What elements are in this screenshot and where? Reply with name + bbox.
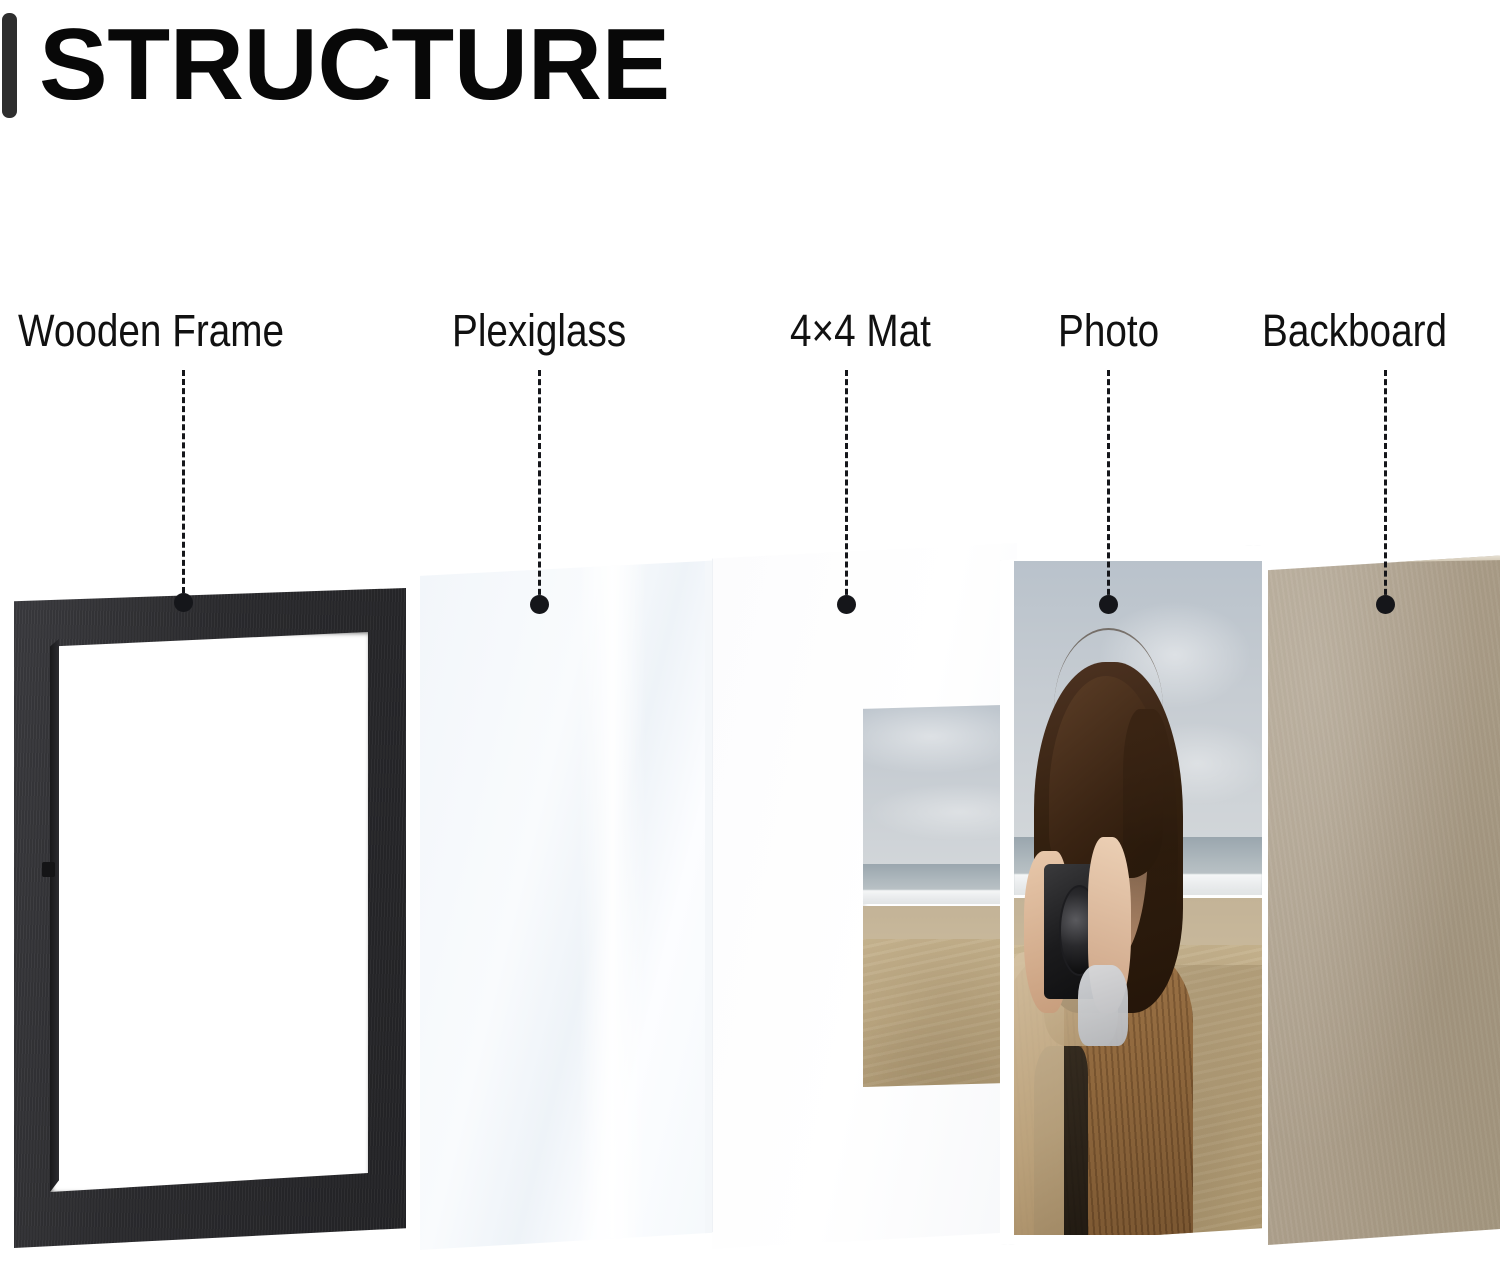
frame-hanging-tab — [42, 862, 55, 877]
callout-label-plexiglass: Plexiglass — [452, 308, 626, 353]
layer-mat-board — [712, 543, 1017, 1249]
photo-subject-sleeve-cuff — [1078, 965, 1128, 1046]
photo-subject-hair-strand — [1123, 709, 1178, 979]
photo-sand-texture — [863, 939, 1003, 1087]
leader-line-mat — [845, 370, 848, 604]
callout-label-photo: Photo — [1058, 308, 1159, 353]
photo-cloud — [863, 705, 1003, 774]
layer-backboard — [1268, 555, 1500, 1245]
leader-dot-mat — [837, 595, 856, 614]
leader-line-plexiglass — [538, 370, 541, 604]
leader-dot-photo — [1099, 595, 1118, 614]
photo-image — [1014, 561, 1262, 1235]
frame-inner-lip — [50, 632, 59, 1192]
leader-dot-wooden-frame — [174, 593, 193, 612]
photo-cloud — [870, 784, 1003, 840]
frame-opening — [50, 632, 368, 1192]
layer-plexiglass — [420, 560, 725, 1250]
layer-photo — [1000, 545, 1262, 1245]
layer-wooden-frame — [14, 588, 406, 1248]
leader-dot-plexiglass — [530, 595, 549, 614]
mat-window-photo-glimpse — [863, 705, 1003, 1087]
callout-label-wooden-frame: Wooden Frame — [18, 308, 284, 353]
leader-dot-backboard — [1376, 595, 1395, 614]
plexiglass-reflection — [579, 560, 646, 1250]
leader-line-photo — [1107, 370, 1110, 604]
callout-label-backboard: Backboard — [1262, 308, 1447, 353]
leader-line-backboard — [1384, 370, 1387, 604]
leader-line-wooden-frame — [182, 370, 185, 602]
callout-label-mat: 4×4 Mat — [790, 308, 931, 353]
exploded-view-diagram — [0, 0, 1500, 1268]
mat-window-opening — [863, 705, 1003, 1087]
